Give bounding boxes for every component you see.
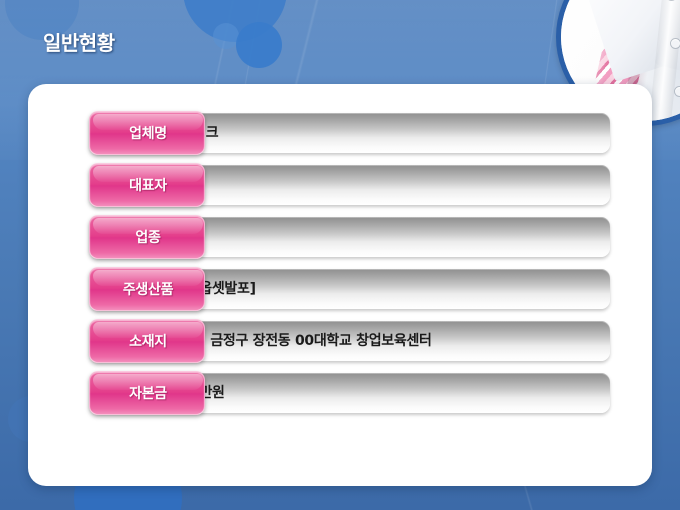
info-table: 인비테크업체명전병진대표자제조업종나염[옵셋발포]주생산품부산시 금정구 장전동… [28,84,652,486]
row-label-chip: 주생산품 [89,267,205,311]
row-label: 업종 [90,216,206,260]
table-row: 인비테크업체명 [90,111,610,155]
row-label: 자본금 [90,372,206,416]
row-label: 주생산품 [90,268,206,312]
table-row: 제조업종 [90,215,610,259]
shirt-button-icon [675,87,680,96]
shirt-button-icon [671,39,680,48]
table-row: 나염[옵셋발포]주생산품 [90,267,610,311]
row-label-chip: 업종 [89,215,205,259]
row-label: 소재지 [90,320,206,364]
content-panel: 인비테크업체명전병진대표자제조업종나염[옵셋발포]주생산품부산시 금정구 장전동… [28,84,652,486]
row-label-chip: 대표자 [89,163,205,207]
table-row: 전병진대표자 [90,163,610,207]
row-label-chip: 업체명 [89,111,205,155]
row-value: 부산시 금정구 장전동 00대학교 창업보육센터 [168,321,432,361]
row-label-chip: 자본금 [89,371,205,415]
row-label-chip: 소재지 [89,319,205,363]
page-title: 일반현황 [43,27,115,56]
table-row: 부산시 금정구 장전동 00대학교 창업보육센터소재지 [90,319,610,363]
table-row: 50백만원자본금 [90,371,610,415]
background-circle [236,22,282,68]
row-label: 업체명 [90,112,206,156]
row-label: 대표자 [90,164,206,208]
slide: 일반현황 인비테크업체명전병진대표자제조업종나염[옵셋발포]주생산품부산시 금정… [0,0,680,510]
